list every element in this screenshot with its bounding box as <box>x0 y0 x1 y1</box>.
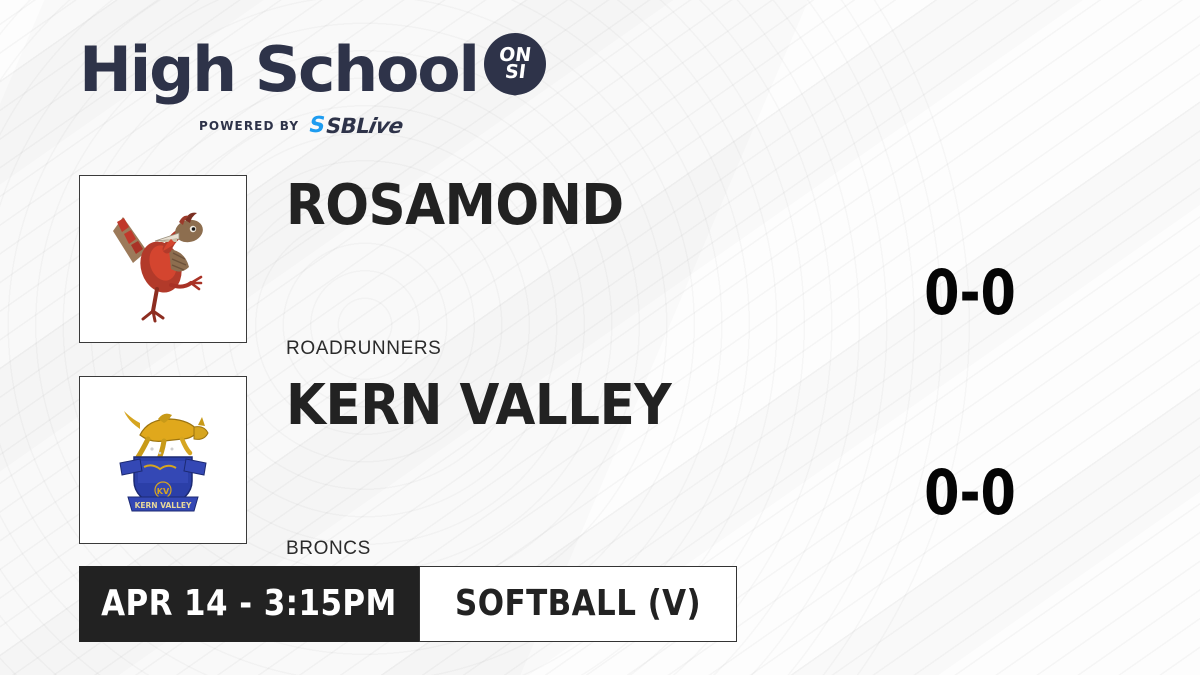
powered-by-row: POWERED BY S SBLive <box>199 115 546 137</box>
sblive-wordmark: SBLive <box>324 116 405 137</box>
powered-by-label: POWERED BY <box>199 119 299 133</box>
team-record-2: 0-0 <box>880 462 1060 524</box>
page-title: High School <box>79 39 478 101</box>
team-logo-box-2: KV KERN VALLEY <box>79 376 247 544</box>
sblive-word-italic: ive <box>367 114 406 138</box>
team-mascot-1: ROADRUNNERS <box>286 338 441 360</box>
brand-title-row: High School ON SI <box>79 33 546 107</box>
game-datetime-block: APR 14 - 3:15PM <box>79 566 419 642</box>
team-logo-box-1 <box>79 175 247 343</box>
bronco-crest-logo-icon: KV KERN VALLEY <box>98 395 228 525</box>
svg-text:KV: KV <box>157 487 170 496</box>
team-mascot-2: BRONCS <box>286 538 371 560</box>
sport-label: SOFTBALL (V) <box>455 586 701 622</box>
brand-header: High School ON SI POWERED BY S SBLive <box>79 33 546 137</box>
svg-text:KERN VALLEY: KERN VALLEY <box>135 501 192 510</box>
pin-label-line2: SI <box>504 64 527 81</box>
matchup-graphic: High School ON SI POWERED BY S SBLive <box>0 0 1200 675</box>
game-datetime-label: APR 14 - 3:15PM <box>101 586 397 622</box>
pin-label: ON SI <box>484 33 546 95</box>
sblive-word-main: SBL <box>324 114 372 138</box>
sport-block: SOFTBALL (V) <box>419 566 737 642</box>
team-name-2: KERN VALLEY <box>286 378 671 434</box>
on-si-pin-icon: ON SI <box>484 33 546 107</box>
team-name-1: ROSAMOND <box>286 178 624 234</box>
sblive-logo: S SBLive <box>309 115 403 137</box>
team-record-1: 0-0 <box>880 262 1060 324</box>
roadrunner-bird-logo-icon <box>93 189 233 329</box>
